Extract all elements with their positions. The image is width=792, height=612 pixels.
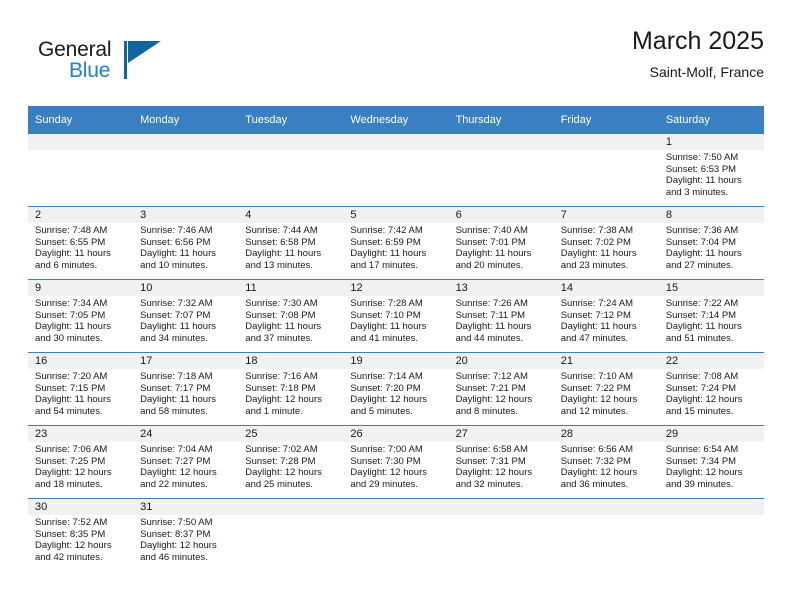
calendar-day-cell[interactable]: 5Sunrise: 7:42 AMSunset: 6:59 PMDaylight… [343,207,448,280]
day-detail-line: Daylight: 12 hours [456,467,548,479]
day-detail-line: Daylight: 12 hours [456,394,548,406]
day-number: 24 [133,426,238,442]
day-detail-line: and 36 minutes. [561,479,653,491]
day-details [28,150,133,152]
day-detail-line: Sunset: 7:08 PM [245,310,337,322]
calendar-table: SundayMondayTuesdayWednesdayThursdayFrid… [28,106,764,571]
day-detail-line: Daylight: 12 hours [666,394,758,406]
day-cell-inner: 30Sunrise: 7:52 AMSunset: 8:35 PMDayligh… [28,499,133,571]
calendar-day-cell[interactable]: 10Sunrise: 7:32 AMSunset: 7:07 PMDayligh… [133,280,238,353]
day-number [449,499,554,515]
calendar-grid: SundayMondayTuesdayWednesdayThursdayFrid… [28,106,764,571]
day-detail-line: Sunset: 7:21 PM [456,383,548,395]
day-details: Sunrise: 7:50 AMSunset: 6:53 PMDaylight:… [659,150,764,198]
day-detail-line: Sunrise: 7:38 AM [561,225,653,237]
day-details: Sunrise: 7:04 AMSunset: 7:27 PMDaylight:… [133,442,238,490]
day-cell-inner: 3Sunrise: 7:46 AMSunset: 6:56 PMDaylight… [133,207,238,279]
day-cell-inner: 13Sunrise: 7:26 AMSunset: 7:11 PMDayligh… [449,280,554,352]
day-detail-line: and 44 minutes. [456,333,548,345]
day-detail-line: and 27 minutes. [666,260,758,272]
day-number: 25 [238,426,343,442]
weekday-header-saturday: Saturday [659,106,764,134]
day-cell-inner [28,134,133,206]
day-detail-line: Sunset: 8:37 PM [140,529,232,541]
day-cell-inner: 5Sunrise: 7:42 AMSunset: 6:59 PMDaylight… [343,207,448,279]
day-number: 20 [449,353,554,369]
calendar-day-cell[interactable]: 8Sunrise: 7:36 AMSunset: 7:04 PMDaylight… [659,207,764,280]
day-detail-line: Sunrise: 7:26 AM [456,298,548,310]
day-details: Sunrise: 7:42 AMSunset: 6:59 PMDaylight:… [343,223,448,271]
day-cell-inner [343,134,448,206]
day-detail-line: and 54 minutes. [35,406,127,418]
day-details: Sunrise: 7:24 AMSunset: 7:12 PMDaylight:… [554,296,659,344]
day-cell-inner: 17Sunrise: 7:18 AMSunset: 7:17 PMDayligh… [133,353,238,425]
day-number: 28 [554,426,659,442]
day-detail-line: and 34 minutes. [140,333,232,345]
day-detail-line: Sunset: 7:01 PM [456,237,548,249]
day-cell-inner: 20Sunrise: 7:12 AMSunset: 7:21 PMDayligh… [449,353,554,425]
day-details: Sunrise: 7:32 AMSunset: 7:07 PMDaylight:… [133,296,238,344]
day-detail-line: Sunrise: 7:44 AM [245,225,337,237]
day-detail-line: Daylight: 12 hours [561,394,653,406]
day-details: Sunrise: 6:58 AMSunset: 7:31 PMDaylight:… [449,442,554,490]
day-detail-line: and 46 minutes. [140,552,232,564]
day-detail-line: and 25 minutes. [245,479,337,491]
logo-triangle-icon [128,41,161,63]
day-cell-inner [554,499,659,571]
calendar-week-row: 30Sunrise: 7:52 AMSunset: 8:35 PMDayligh… [28,499,764,572]
calendar-day-cell-empty [28,134,133,207]
day-number: 12 [343,280,448,296]
day-details: Sunrise: 7:12 AMSunset: 7:21 PMDaylight:… [449,369,554,417]
day-details: Sunrise: 7:26 AMSunset: 7:11 PMDaylight:… [449,296,554,344]
day-details: Sunrise: 7:40 AMSunset: 7:01 PMDaylight:… [449,223,554,271]
day-details: Sunrise: 7:38 AMSunset: 7:02 PMDaylight:… [554,223,659,271]
day-number: 22 [659,353,764,369]
day-detail-line: and 47 minutes. [561,333,653,345]
day-number: 14 [554,280,659,296]
day-number [554,499,659,515]
day-number: 5 [343,207,448,223]
day-detail-line: Sunrise: 7:50 AM [666,152,758,164]
day-detail-line: Sunrise: 7:34 AM [35,298,127,310]
day-detail-line: Daylight: 11 hours [456,321,548,333]
day-number [343,499,448,515]
day-details: Sunrise: 7:00 AMSunset: 7:30 PMDaylight:… [343,442,448,490]
calendar-day-cell[interactable]: 30Sunrise: 7:52 AMSunset: 8:35 PMDayligh… [28,499,133,572]
day-details [449,515,554,517]
day-cell-inner: 6Sunrise: 7:40 AMSunset: 7:01 PMDaylight… [449,207,554,279]
day-detail-line: Sunset: 7:18 PM [245,383,337,395]
day-detail-line: Daylight: 11 hours [35,321,127,333]
calendar-day-cell[interactable]: 2Sunrise: 7:48 AMSunset: 6:55 PMDaylight… [28,207,133,280]
day-details: Sunrise: 7:44 AMSunset: 6:58 PMDaylight:… [238,223,343,271]
title-block: March 2025 Saint-Molf, France [632,26,764,82]
day-detail-line: and 12 minutes. [561,406,653,418]
calendar-day-cell[interactable]: 22Sunrise: 7:08 AMSunset: 7:24 PMDayligh… [659,353,764,426]
day-cell-inner: 12Sunrise: 7:28 AMSunset: 7:10 PMDayligh… [343,280,448,352]
day-detail-line: Sunset: 6:55 PM [35,237,127,249]
day-details [133,150,238,152]
day-detail-line: Daylight: 12 hours [350,394,442,406]
day-cell-inner [238,134,343,206]
day-detail-line: Sunset: 7:07 PM [140,310,232,322]
day-cell-inner: 22Sunrise: 7:08 AMSunset: 7:24 PMDayligh… [659,353,764,425]
day-number: 9 [28,280,133,296]
day-cell-inner [554,134,659,206]
day-cell-inner [449,499,554,571]
day-cell-inner: 4Sunrise: 7:44 AMSunset: 6:58 PMDaylight… [238,207,343,279]
calendar-day-cell-empty [238,499,343,572]
day-detail-line: Sunset: 7:24 PM [666,383,758,395]
calendar-week-row: 9Sunrise: 7:34 AMSunset: 7:05 PMDaylight… [28,280,764,353]
day-detail-line: and 42 minutes. [35,552,127,564]
day-detail-line: and 13 minutes. [245,260,337,272]
day-detail-line: Sunrise: 7:36 AM [666,225,758,237]
day-details [343,515,448,517]
day-number: 13 [449,280,554,296]
day-number: 6 [449,207,554,223]
weekday-header-wednesday: Wednesday [343,106,448,134]
day-detail-line: Daylight: 11 hours [35,394,127,406]
day-cell-inner: 2Sunrise: 7:48 AMSunset: 6:55 PMDaylight… [28,207,133,279]
day-detail-line: and 1 minute. [245,406,337,418]
day-details: Sunrise: 7:30 AMSunset: 7:08 PMDaylight:… [238,296,343,344]
day-detail-line: Sunrise: 7:24 AM [561,298,653,310]
calendar-day-cell[interactable]: 24Sunrise: 7:04 AMSunset: 7:27 PMDayligh… [133,426,238,499]
calendar-header-row: SundayMondayTuesdayWednesdayThursdayFrid… [28,106,764,134]
day-cell-inner: 28Sunrise: 6:56 AMSunset: 7:32 PMDayligh… [554,426,659,498]
day-details: Sunrise: 7:16 AMSunset: 7:18 PMDaylight:… [238,369,343,417]
day-detail-line: and 22 minutes. [140,479,232,491]
day-detail-line: Sunset: 6:58 PM [245,237,337,249]
day-number: 4 [238,207,343,223]
day-details: Sunrise: 6:54 AMSunset: 7:34 PMDaylight:… [659,442,764,490]
calendar-day-cell[interactable]: 23Sunrise: 7:06 AMSunset: 7:25 PMDayligh… [28,426,133,499]
day-number [28,134,133,150]
day-details: Sunrise: 7:18 AMSunset: 7:17 PMDaylight:… [133,369,238,417]
day-number [133,134,238,150]
day-number: 29 [659,426,764,442]
calendar-day-cell[interactable]: 19Sunrise: 7:14 AMSunset: 7:20 PMDayligh… [343,353,448,426]
day-detail-line: and 15 minutes. [666,406,758,418]
day-detail-line: and 18 minutes. [35,479,127,491]
day-cell-inner: 11Sunrise: 7:30 AMSunset: 7:08 PMDayligh… [238,280,343,352]
day-number: 15 [659,280,764,296]
day-detail-line: Sunrise: 7:52 AM [35,517,127,529]
day-number: 21 [554,353,659,369]
day-number: 8 [659,207,764,223]
day-cell-inner: 29Sunrise: 6:54 AMSunset: 7:34 PMDayligh… [659,426,764,498]
calendar-day-cell[interactable]: 12Sunrise: 7:28 AMSunset: 7:10 PMDayligh… [343,280,448,353]
day-detail-line: Sunset: 7:15 PM [35,383,127,395]
day-detail-line: Sunrise: 7:10 AM [561,371,653,383]
day-number: 19 [343,353,448,369]
day-details: Sunrise: 7:02 AMSunset: 7:28 PMDaylight:… [238,442,343,490]
weekday-header-friday: Friday [554,106,659,134]
day-cell-inner: 7Sunrise: 7:38 AMSunset: 7:02 PMDaylight… [554,207,659,279]
day-detail-line: Sunrise: 7:06 AM [35,444,127,456]
day-detail-line: Sunrise: 7:50 AM [140,517,232,529]
day-details: Sunrise: 7:08 AMSunset: 7:24 PMDaylight:… [659,369,764,417]
day-number: 31 [133,499,238,515]
day-detail-line: Sunset: 7:34 PM [666,456,758,468]
day-number [343,134,448,150]
calendar-week-row: 23Sunrise: 7:06 AMSunset: 7:25 PMDayligh… [28,426,764,499]
day-detail-line: Sunset: 7:28 PM [245,456,337,468]
calendar-page: General Blue March 2025 Saint-Molf, Fran… [0,0,792,612]
day-detail-line: Daylight: 11 hours [350,321,442,333]
day-detail-line: Daylight: 11 hours [561,321,653,333]
day-number [659,499,764,515]
calendar-day-cell-empty [343,499,448,572]
day-detail-line: Sunset: 6:59 PM [350,237,442,249]
day-details: Sunrise: 7:10 AMSunset: 7:22 PMDaylight:… [554,369,659,417]
calendar-day-cell[interactable]: 11Sunrise: 7:30 AMSunset: 7:08 PMDayligh… [238,280,343,353]
day-detail-line: Daylight: 12 hours [140,540,232,552]
day-details [238,515,343,517]
day-cell-inner: 21Sunrise: 7:10 AMSunset: 7:22 PMDayligh… [554,353,659,425]
day-cell-inner: 25Sunrise: 7:02 AMSunset: 7:28 PMDayligh… [238,426,343,498]
day-detail-line: Sunrise: 7:08 AM [666,371,758,383]
day-detail-line: Daylight: 12 hours [245,467,337,479]
day-details: Sunrise: 7:50 AMSunset: 8:37 PMDaylight:… [133,515,238,563]
day-detail-line: Sunset: 7:22 PM [561,383,653,395]
day-number: 2 [28,207,133,223]
day-detail-line: Sunrise: 6:54 AM [666,444,758,456]
day-detail-line: Sunrise: 7:32 AM [140,298,232,310]
day-detail-line: Daylight: 11 hours [666,248,758,260]
calendar-day-cell-empty [449,499,554,572]
day-cell-inner: 23Sunrise: 7:06 AMSunset: 7:25 PMDayligh… [28,426,133,498]
calendar-week-row: 2Sunrise: 7:48 AMSunset: 6:55 PMDaylight… [28,207,764,280]
day-detail-line: and 51 minutes. [666,333,758,345]
day-number: 30 [28,499,133,515]
calendar-day-cell-empty [343,134,448,207]
day-cell-inner [343,499,448,571]
day-detail-line: and 8 minutes. [456,406,548,418]
day-detail-line: Daylight: 12 hours [561,467,653,479]
weekday-header-thursday: Thursday [449,106,554,134]
day-detail-line: Sunrise: 7:40 AM [456,225,548,237]
day-cell-inner: 14Sunrise: 7:24 AMSunset: 7:12 PMDayligh… [554,280,659,352]
day-detail-line: Sunset: 7:32 PM [561,456,653,468]
day-detail-line: Daylight: 11 hours [35,248,127,260]
day-cell-inner: 1Sunrise: 7:50 AMSunset: 6:53 PMDaylight… [659,134,764,206]
day-detail-line: Sunrise: 7:14 AM [350,371,442,383]
calendar-day-cell[interactable]: 1Sunrise: 7:50 AMSunset: 6:53 PMDaylight… [659,134,764,207]
calendar-day-cell[interactable]: 4Sunrise: 7:44 AMSunset: 6:58 PMDaylight… [238,207,343,280]
day-detail-line: Sunrise: 7:22 AM [666,298,758,310]
day-detail-line: Daylight: 11 hours [666,321,758,333]
day-detail-line: Sunrise: 7:46 AM [140,225,232,237]
day-detail-line: Sunrise: 7:02 AM [245,444,337,456]
day-number: 17 [133,353,238,369]
calendar-body: 1Sunrise: 7:50 AMSunset: 6:53 PMDaylight… [28,134,764,571]
calendar-day-cell-empty [238,134,343,207]
day-detail-line: Sunset: 7:27 PM [140,456,232,468]
day-detail-line: and 6 minutes. [35,260,127,272]
day-detail-line: Daylight: 11 hours [350,248,442,260]
calendar-day-cell[interactable]: 3Sunrise: 7:46 AMSunset: 6:56 PMDaylight… [133,207,238,280]
day-detail-line: Sunset: 7:11 PM [456,310,548,322]
day-detail-line: Daylight: 12 hours [35,540,127,552]
day-details [343,150,448,152]
day-detail-line: and 37 minutes. [245,333,337,345]
day-cell-inner: 10Sunrise: 7:32 AMSunset: 7:07 PMDayligh… [133,280,238,352]
day-detail-line: and 58 minutes. [140,406,232,418]
day-detail-line: and 32 minutes. [456,479,548,491]
day-detail-line: Sunset: 7:10 PM [350,310,442,322]
day-detail-line: Sunset: 8:35 PM [35,529,127,541]
day-detail-line: and 39 minutes. [666,479,758,491]
calendar-day-cell[interactable]: 26Sunrise: 7:00 AMSunset: 7:30 PMDayligh… [343,426,448,499]
day-detail-line: Sunrise: 7:48 AM [35,225,127,237]
day-cell-inner: 15Sunrise: 7:22 AMSunset: 7:14 PMDayligh… [659,280,764,352]
weekday-header-tuesday: Tuesday [238,106,343,134]
day-details [238,150,343,152]
day-cell-inner: 8Sunrise: 7:36 AMSunset: 7:04 PMDaylight… [659,207,764,279]
day-detail-line: and 41 minutes. [350,333,442,345]
day-detail-line: Sunrise: 7:00 AM [350,444,442,456]
day-detail-line: Sunrise: 6:58 AM [456,444,548,456]
day-number: 11 [238,280,343,296]
day-detail-line: Sunset: 7:05 PM [35,310,127,322]
calendar-day-cell[interactable]: 27Sunrise: 6:58 AMSunset: 7:31 PMDayligh… [449,426,554,499]
day-detail-line: Sunset: 6:53 PM [666,164,758,176]
day-detail-line: Sunrise: 7:20 AM [35,371,127,383]
calendar-day-cell[interactable]: 15Sunrise: 7:22 AMSunset: 7:14 PMDayligh… [659,280,764,353]
day-detail-line: Daylight: 11 hours [140,394,232,406]
day-detail-line: Daylight: 11 hours [140,248,232,260]
calendar-week-row: 16Sunrise: 7:20 AMSunset: 7:15 PMDayligh… [28,353,764,426]
day-details: Sunrise: 7:22 AMSunset: 7:14 PMDaylight:… [659,296,764,344]
calendar-day-cell[interactable]: 9Sunrise: 7:34 AMSunset: 7:05 PMDaylight… [28,280,133,353]
day-detail-line: Daylight: 11 hours [245,248,337,260]
calendar-day-cell[interactable]: 29Sunrise: 6:54 AMSunset: 7:34 PMDayligh… [659,426,764,499]
day-detail-line: Sunset: 7:31 PM [456,456,548,468]
day-details: Sunrise: 7:34 AMSunset: 7:05 PMDaylight:… [28,296,133,344]
day-number: 26 [343,426,448,442]
day-detail-line: and 5 minutes. [350,406,442,418]
calendar-day-cell-empty [554,499,659,572]
day-detail-line: and 17 minutes. [350,260,442,272]
day-details [659,515,764,517]
day-number: 10 [133,280,238,296]
calendar-day-cell-empty [449,134,554,207]
day-cell-inner: 19Sunrise: 7:14 AMSunset: 7:20 PMDayligh… [343,353,448,425]
day-cell-inner: 9Sunrise: 7:34 AMSunset: 7:05 PMDaylight… [28,280,133,352]
day-detail-line: Sunset: 7:25 PM [35,456,127,468]
day-details: Sunrise: 7:46 AMSunset: 6:56 PMDaylight:… [133,223,238,271]
day-detail-line: Daylight: 12 hours [245,394,337,406]
day-cell-inner [238,499,343,571]
day-details [554,150,659,152]
day-detail-line: Sunrise: 6:56 AM [561,444,653,456]
day-details: Sunrise: 7:52 AMSunset: 8:35 PMDaylight:… [28,515,133,563]
calendar-day-cell[interactable]: 25Sunrise: 7:02 AMSunset: 7:28 PMDayligh… [238,426,343,499]
day-detail-line: Sunset: 7:02 PM [561,237,653,249]
calendar-day-cell[interactable]: 31Sunrise: 7:50 AMSunset: 8:37 PMDayligh… [133,499,238,572]
day-detail-line: Sunrise: 7:30 AM [245,298,337,310]
calendar-day-cell[interactable]: 6Sunrise: 7:40 AMSunset: 7:01 PMDaylight… [449,207,554,280]
page-subtitle: Saint-Molf, France [632,62,764,82]
calendar-day-cell[interactable]: 18Sunrise: 7:16 AMSunset: 7:18 PMDayligh… [238,353,343,426]
calendar-day-cell-empty [554,134,659,207]
day-detail-line: and 23 minutes. [561,260,653,272]
day-cell-inner: 24Sunrise: 7:04 AMSunset: 7:27 PMDayligh… [133,426,238,498]
day-detail-line: Daylight: 12 hours [35,467,127,479]
day-cell-inner: 16Sunrise: 7:20 AMSunset: 7:15 PMDayligh… [28,353,133,425]
day-detail-line: Sunrise: 7:18 AM [140,371,232,383]
day-number [238,134,343,150]
day-detail-line: Sunset: 7:17 PM [140,383,232,395]
day-detail-line: Daylight: 11 hours [456,248,548,260]
day-cell-inner: 26Sunrise: 7:00 AMSunset: 7:30 PMDayligh… [343,426,448,498]
day-detail-line: Daylight: 12 hours [350,467,442,479]
day-detail-line: Sunset: 7:20 PM [350,383,442,395]
day-details: Sunrise: 7:14 AMSunset: 7:20 PMDaylight:… [343,369,448,417]
day-details: Sunrise: 7:06 AMSunset: 7:25 PMDaylight:… [28,442,133,490]
calendar-day-cell[interactable]: 13Sunrise: 7:26 AMSunset: 7:11 PMDayligh… [449,280,554,353]
logo-vertical-bar-icon [124,41,127,79]
general-blue-logo[interactable]: General Blue [38,32,218,92]
day-detail-line: Sunset: 7:14 PM [666,310,758,322]
day-details: Sunrise: 7:28 AMSunset: 7:10 PMDaylight:… [343,296,448,344]
day-details: Sunrise: 7:48 AMSunset: 6:55 PMDaylight:… [28,223,133,271]
calendar-day-cell-empty [133,134,238,207]
day-number: 1 [659,134,764,150]
calendar-day-cell[interactable]: 21Sunrise: 7:10 AMSunset: 7:22 PMDayligh… [554,353,659,426]
day-details [449,150,554,152]
day-cell-inner: 27Sunrise: 6:58 AMSunset: 7:31 PMDayligh… [449,426,554,498]
day-detail-line: Sunrise: 7:04 AM [140,444,232,456]
day-number [449,134,554,150]
day-detail-line: and 3 minutes. [666,187,758,199]
day-detail-line: and 30 minutes. [35,333,127,345]
calendar-day-cell[interactable]: 7Sunrise: 7:38 AMSunset: 7:02 PMDaylight… [554,207,659,280]
calendar-day-cell-empty [659,499,764,572]
calendar-day-cell[interactable]: 16Sunrise: 7:20 AMSunset: 7:15 PMDayligh… [28,353,133,426]
day-detail-line: and 10 minutes. [140,260,232,272]
day-detail-line: Sunset: 7:30 PM [350,456,442,468]
day-details [554,515,659,517]
day-number: 7 [554,207,659,223]
day-number: 3 [133,207,238,223]
day-detail-line: Daylight: 12 hours [666,467,758,479]
weekday-header-sunday: Sunday [28,106,133,134]
day-details: Sunrise: 6:56 AMSunset: 7:32 PMDaylight:… [554,442,659,490]
calendar-day-cell[interactable]: 28Sunrise: 6:56 AMSunset: 7:32 PMDayligh… [554,426,659,499]
day-cell-inner: 18Sunrise: 7:16 AMSunset: 7:18 PMDayligh… [238,353,343,425]
day-detail-line: and 20 minutes. [456,260,548,272]
page-title: March 2025 [632,26,764,56]
calendar-day-cell[interactable]: 20Sunrise: 7:12 AMSunset: 7:21 PMDayligh… [449,353,554,426]
day-details: Sunrise: 7:20 AMSunset: 7:15 PMDaylight:… [28,369,133,417]
day-detail-line: Sunrise: 7:12 AM [456,371,548,383]
weekday-header-monday: Monday [133,106,238,134]
calendar-day-cell[interactable]: 17Sunrise: 7:18 AMSunset: 7:17 PMDayligh… [133,353,238,426]
day-detail-line: Sunset: 7:04 PM [666,237,758,249]
day-cell-inner [449,134,554,206]
day-cell-inner [133,134,238,206]
day-number [554,134,659,150]
day-number: 16 [28,353,133,369]
calendar-week-row: 1Sunrise: 7:50 AMSunset: 6:53 PMDaylight… [28,134,764,207]
calendar-day-cell[interactable]: 14Sunrise: 7:24 AMSunset: 7:12 PMDayligh… [554,280,659,353]
page-header: General Blue March 2025 Saint-Molf, Fran… [28,26,764,96]
day-detail-line: Daylight: 11 hours [245,321,337,333]
